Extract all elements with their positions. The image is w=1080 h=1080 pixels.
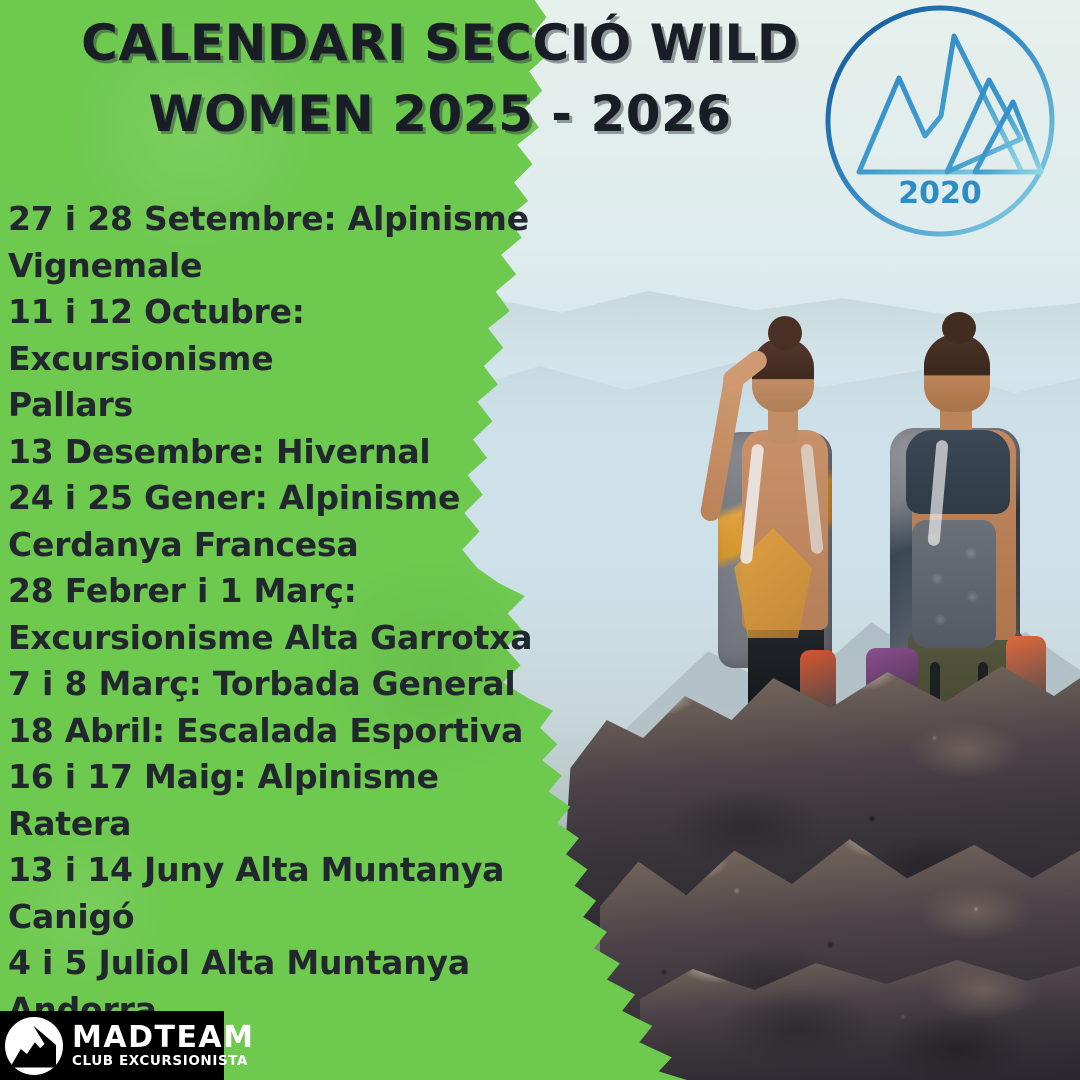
list-item: 16 i 17 Maig: Alpinisme Ratera bbox=[8, 754, 548, 847]
hiker-right-head bbox=[924, 334, 990, 412]
madteam-title: MADTEAM bbox=[72, 1023, 255, 1053]
list-item: 28 Febrer i 1 Març: bbox=[8, 568, 548, 615]
list-item: Vignemale bbox=[8, 243, 548, 290]
list-item: 24 i 25 Gener: Alpinisme bbox=[8, 475, 548, 522]
madteam-peak-shape bbox=[12, 1026, 56, 1068]
list-item: Canigó bbox=[8, 894, 548, 941]
list-item: Cerdanya Francesa bbox=[8, 522, 548, 569]
madteam-subtitle: CLUB EXCURSIONISTA bbox=[72, 1055, 255, 1069]
poster-canvas: CALENDARI SECCIÓ WILD WOMEN 2025 - 2026 bbox=[0, 0, 1080, 1080]
hiker-right-backpack-hood bbox=[906, 430, 1010, 514]
list-item: Excursionisme Alta Garrotxa bbox=[8, 615, 548, 662]
madteam-text-block: MADTEAM CLUB EXCURSIONISTA bbox=[72, 1023, 255, 1069]
madteam-mountain-icon bbox=[5, 1017, 63, 1075]
list-item: 27 i 28 Setembre: Alpinisme bbox=[8, 196, 548, 243]
hiker-left-hair-bun bbox=[768, 316, 802, 350]
list-item: 13 Desembre: Hivernal bbox=[8, 429, 548, 476]
list-item: Pallars bbox=[8, 382, 548, 429]
list-item: 18 Abril: Escalada Esportiva bbox=[8, 708, 548, 755]
list-item: 13 i 14 Juny Alta Muntanya bbox=[8, 847, 548, 894]
hiker-right-backpack-mesh bbox=[912, 520, 996, 648]
list-item: 7 i 8 Març: Torbada General bbox=[8, 661, 548, 708]
wild-women-logo: 2020 bbox=[823, 4, 1057, 238]
logo-year: 2020 bbox=[898, 176, 982, 211]
logo-mountain-small bbox=[975, 102, 1041, 172]
madteam-badge[interactable]: MADTEAM CLUB EXCURSIONISTA bbox=[0, 1011, 224, 1080]
list-item: 11 i 12 Octubre: Excursionisme bbox=[8, 289, 548, 382]
hiker-right-hair-bun bbox=[942, 312, 976, 344]
list-item: 4 i 5 Juliol Alta Muntanya bbox=[8, 940, 548, 987]
schedule-list: 27 i 28 Setembre: Alpinisme Vignemale 11… bbox=[8, 196, 548, 1033]
